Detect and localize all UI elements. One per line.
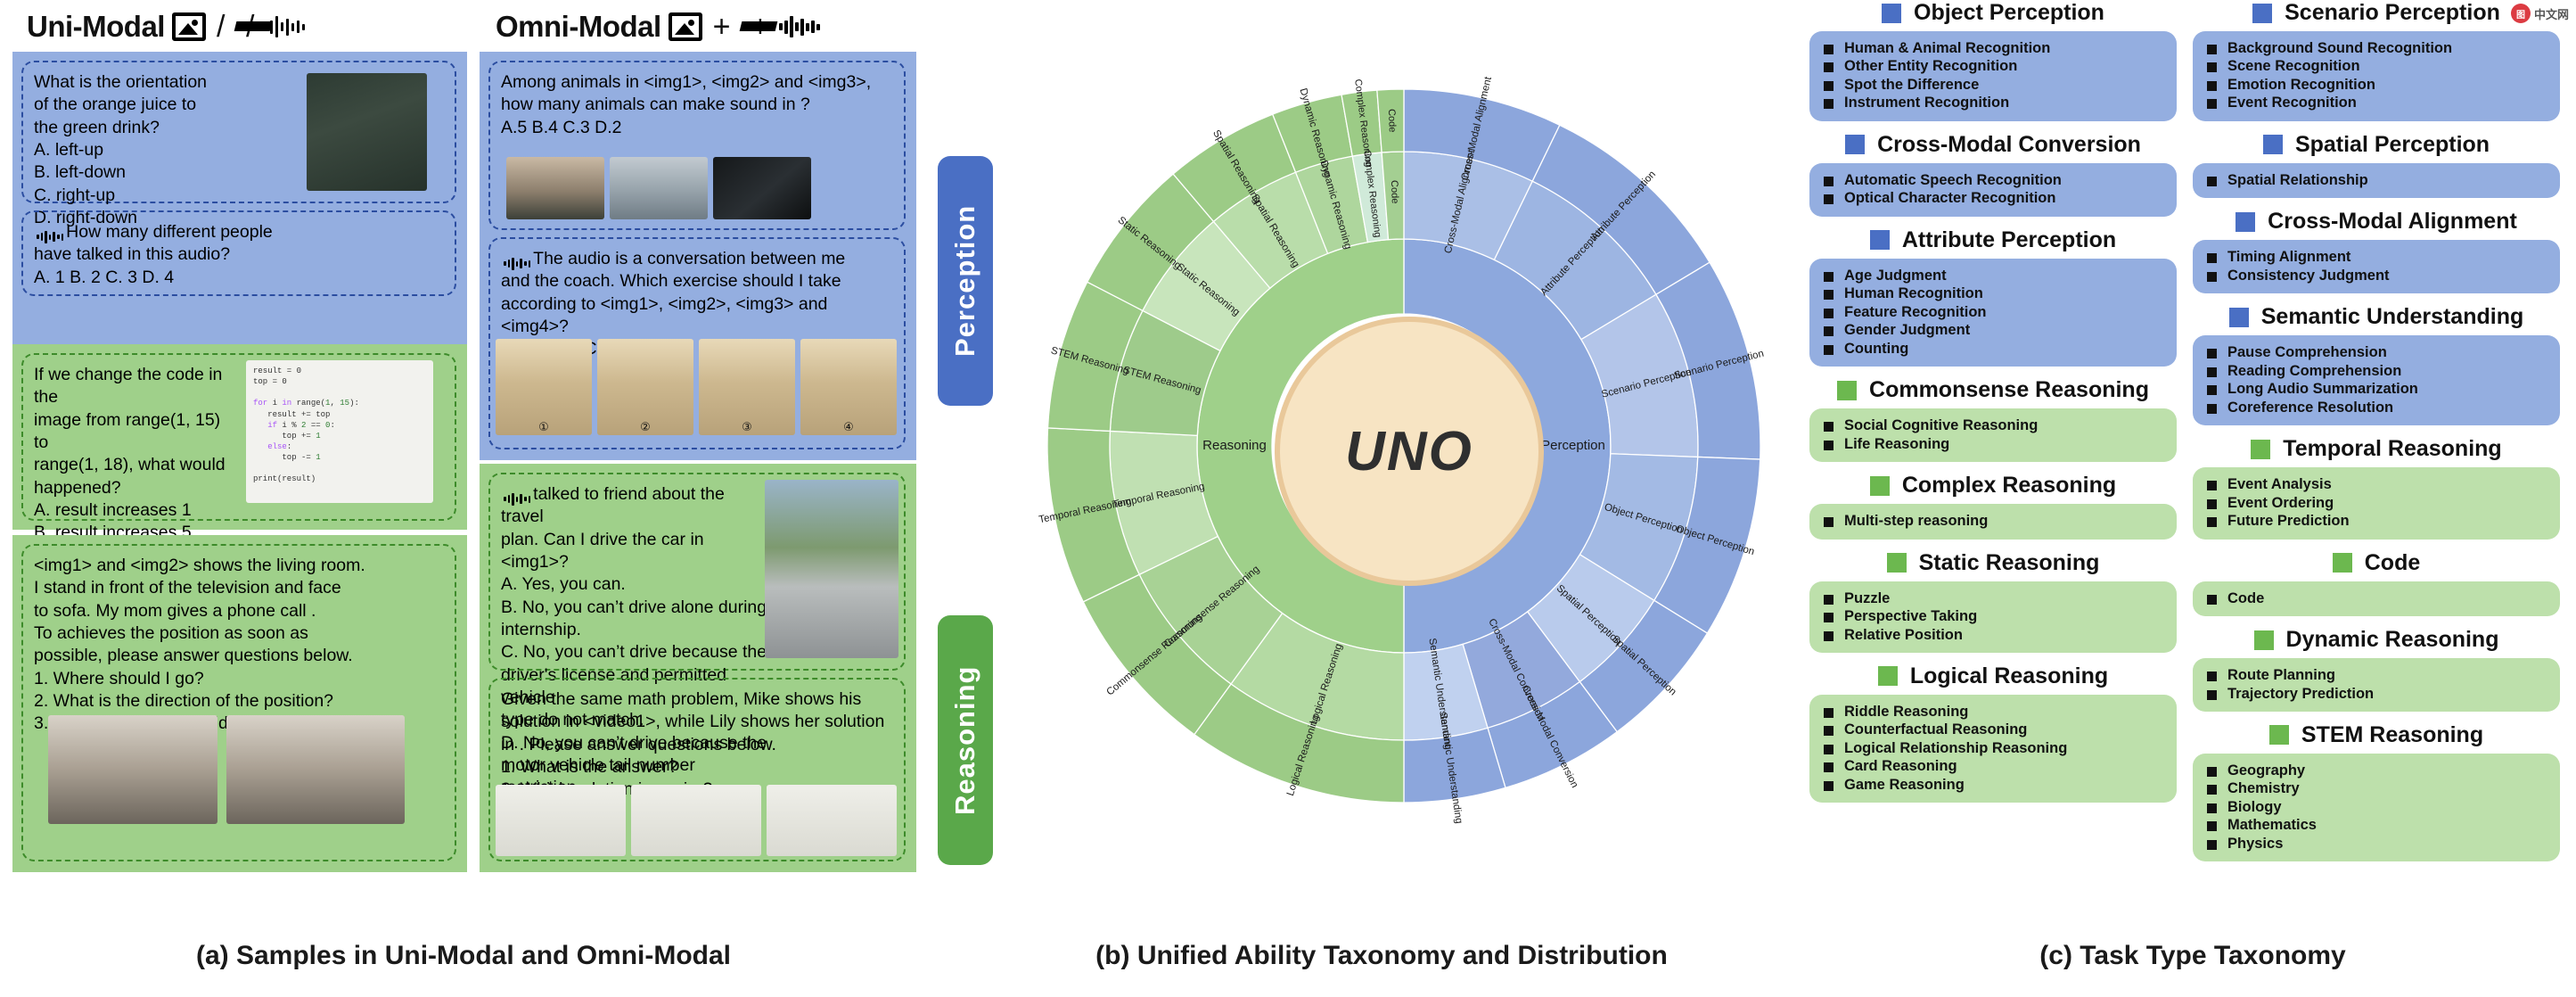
omni-modal-perception-region: Among animals in <img1>, <img2> and <img… — [480, 52, 916, 460]
task-list-item[interactable]: Long Audio Summarization — [2207, 381, 2551, 398]
task-list-item-label: Consistency Judgment — [2227, 268, 2390, 284]
task-list-item-label: Coreference Resolution — [2227, 400, 2393, 416]
task-group-title: Commonsense Reasoning — [1869, 377, 2149, 403]
task-list-item[interactable]: Automatic Speech Recognition — [1824, 172, 2168, 189]
task-group-header: Spatial Perception — [2193, 132, 2560, 158]
list-bullet-square-icon — [1824, 177, 1834, 186]
task-group-body: Automatic Speech RecognitionOptical Char… — [1809, 163, 2177, 217]
task-list-item-label: Optical Character Recognition — [1844, 190, 2055, 207]
task-group-body: PuzzlePerspective TakingRelative Positio… — [1809, 581, 2177, 653]
task-list-item[interactable]: Game Reasoning — [1824, 777, 2168, 794]
group-bullet-square-icon — [1878, 666, 1898, 686]
list-bullet-square-icon — [1824, 613, 1834, 622]
task-list-item[interactable]: Mathematics — [2207, 817, 2551, 834]
list-bullet-square-icon — [2207, 821, 2217, 831]
sample-card-omni-perception-1[interactable]: Among animals in <img1>, <img2> and <img… — [488, 61, 906, 230]
sample-question-text: <img1> and <img2> shows the living room.… — [34, 555, 444, 736]
task-group-body: Human & Animal RecognitionOther Entity R… — [1809, 31, 2177, 121]
task-group-body: Riddle ReasoningCounterfactual Reasoning… — [1809, 695, 2177, 803]
list-bullet-square-icon — [1824, 726, 1834, 736]
uni-modal-label: Uni-Modal — [27, 10, 165, 44]
list-bullet-square-icon — [2207, 45, 2217, 54]
task-list-item-label: Event Recognition — [2227, 95, 2357, 111]
list-bullet-square-icon — [2207, 672, 2217, 681]
task-group-header: Cross-Modal Conversion — [1809, 132, 2177, 158]
task-list-item-label: Card Reasoning — [1844, 758, 1957, 775]
omni-modal-reasoning-region: talked to friend about the travel plan. … — [480, 464, 916, 872]
task-list-item-label: Long Audio Summarization — [2227, 381, 2418, 398]
task-group-header: Dynamic Reasoning — [2193, 627, 2560, 653]
task-list-item[interactable]: Life Reasoning — [1824, 436, 2168, 453]
task-list-item-label: Timing Alignment — [2227, 249, 2350, 266]
task-list-item-label: Feature Recognition — [1844, 304, 1987, 321]
caption-c: (c) Task Type Taxonomy — [1809, 941, 2576, 971]
task-group-title: Spatial Perception — [2295, 132, 2490, 158]
list-bullet-square-icon — [1824, 290, 1834, 300]
group-bullet-square-icon — [2333, 553, 2352, 573]
task-group-body: Spatial Relationship — [2193, 163, 2560, 198]
list-bullet-square-icon — [2207, 177, 2217, 186]
task-group-body: Event AnalysisEvent OrderingFuture Predi… — [2193, 467, 2560, 539]
sunburst-core: UNO — [1275, 317, 1544, 586]
list-bullet-square-icon — [1824, 62, 1834, 72]
group-bullet-square-icon — [2229, 308, 2249, 327]
task-list-item[interactable]: Spatial Relationship — [2207, 172, 2551, 189]
task-list-item[interactable]: Emotion Recognition — [2207, 77, 2551, 94]
uni-modal-reasoning-region-2: <img1> and <img2> shows the living room.… — [12, 535, 467, 872]
separator-slash-1: / — [213, 10, 228, 45]
task-group-header: Semantic Understanding — [2193, 304, 2560, 330]
task-list-item-label: Other Entity Recognition — [1844, 58, 2017, 75]
task-list-item[interactable]: Counting — [1824, 341, 2168, 358]
task-list-item-label: Physics — [2227, 836, 2283, 853]
list-bullet-square-icon — [2207, 481, 2217, 490]
task-group-header: Temporal Reasoning — [2193, 436, 2560, 462]
task-list-item-label: Spatial Relationship — [2227, 172, 2368, 189]
list-bullet-square-icon — [2207, 785, 2217, 795]
task-list-item[interactable]: Social Cognitive Reasoning — [1824, 417, 2168, 434]
task-list-item[interactable]: Human Recognition — [1824, 285, 2168, 302]
sample-image-black-cat — [713, 157, 811, 219]
exercise-caption: ③ — [699, 420, 795, 434]
list-bullet-square-icon — [1824, 45, 1834, 54]
task-group-header: Static Reasoning — [1809, 550, 2177, 576]
sample-image-handwriting-3 — [767, 785, 897, 856]
task-group-body: Age JudgmentHuman RecognitionFeature Rec… — [1809, 259, 2177, 367]
sunburst-inner-label: Perception — [1541, 438, 1605, 453]
list-bullet-square-icon — [1824, 441, 1834, 450]
group-bullet-square-icon — [2263, 135, 2283, 154]
panel-b-taxonomy-sunburst: PerceptionReasoningCross-Modal Alignment… — [1007, 18, 1801, 874]
image-icon — [172, 12, 206, 41]
task-list-item-label: Geography — [2227, 762, 2305, 779]
task-list-item-label: Route Planning — [2227, 667, 2335, 684]
group-bullet-square-icon — [1845, 135, 1865, 154]
task-list-item[interactable]: Pause Comprehension — [2207, 344, 2551, 361]
sample-image-code-screenshot: result = 0top = 0 for i in range(1, 15):… — [246, 360, 433, 503]
sample-image-drinks — [307, 73, 427, 191]
task-list-item-label: Background Sound Recognition — [2227, 40, 2452, 57]
group-bullet-square-icon — [2236, 212, 2255, 232]
audio-wave-icon — [504, 258, 530, 270]
task-list-item[interactable]: Human & Animal Recognition — [1824, 40, 2168, 57]
task-list-item-label: Pause Comprehension — [2227, 344, 2387, 361]
sample-image-living-room-2 — [226, 715, 405, 824]
panel-c-task-taxonomy: Object PerceptionHuman & Animal Recognit… — [1809, 0, 2576, 919]
task-group-header: Commonsense Reasoning — [1809, 377, 2177, 403]
task-list-item-label: Counterfactual Reasoning — [1844, 721, 2027, 738]
sample-image-car-street — [765, 480, 898, 658]
sample-question-text: How many different people have talked in… — [34, 221, 444, 289]
task-list-item[interactable]: Code — [2207, 590, 2551, 607]
list-bullet-square-icon — [1824, 272, 1834, 282]
list-bullet-square-icon — [1824, 745, 1834, 754]
task-group-title: Attribute Perception — [1902, 227, 2116, 253]
task-group-body: Pause ComprehensionReading Comprehension… — [2193, 335, 2560, 425]
group-bullet-square-icon — [1882, 4, 1901, 23]
list-bullet-square-icon — [1824, 81, 1834, 91]
task-list-item-label: Game Reasoning — [1844, 777, 1965, 794]
task-list-item[interactable]: Other Entity Recognition — [1824, 58, 2168, 75]
list-bullet-square-icon — [1824, 631, 1834, 641]
image-icon — [669, 12, 702, 41]
task-taxonomy-right-column: Scenario PerceptionBackground Sound Reco… — [2193, 0, 2560, 872]
band-perception: Perception — [938, 156, 993, 406]
task-list-item-label: Logical Relationship Reasoning — [1844, 740, 2067, 757]
task-group-body: Route PlanningTrajectory Prediction — [2193, 658, 2560, 712]
sample-image-exercise-4: ④ — [800, 339, 897, 435]
group-bullet-square-icon — [1870, 230, 1890, 250]
task-group-title: STEM Reasoning — [2301, 722, 2483, 748]
sample-image-handwriting-2 — [631, 785, 761, 856]
task-group-header: Cross-Modal Alignment — [2193, 209, 2560, 235]
task-list-item[interactable]: Counterfactual Reasoning — [1824, 721, 2168, 738]
task-group-header: Scenario Perception — [2193, 0, 2560, 26]
task-list-item-label: Life Reasoning — [1844, 436, 1949, 453]
task-taxonomy-left-column: Object PerceptionHuman & Animal Recognit… — [1809, 0, 2177, 813]
group-bullet-square-icon — [2254, 630, 2274, 650]
list-bullet-square-icon — [1824, 309, 1834, 318]
sample-card-omni-reasoning-1[interactable]: talked to friend about the travel plan. … — [488, 473, 906, 671]
task-list-item[interactable]: Puzzle — [1824, 590, 2168, 607]
task-group-title: Logical Reasoning — [1910, 663, 2108, 689]
sample-image-exercise-1: ① — [496, 339, 592, 435]
task-list-item-label: Puzzle — [1844, 590, 1890, 607]
sample-question-text: Among animals in <img1>, <img2> and <img… — [501, 71, 893, 139]
task-list-item[interactable]: Scene Recognition — [2207, 58, 2551, 75]
code-snippet: result = 0top = 0 for i in range(1, 15):… — [246, 360, 433, 490]
omni-modal-label: Omni-Modal — [496, 10, 661, 44]
figure-captions: (a) Samples in Uni-Modal and Omni-Modal … — [0, 941, 2576, 985]
task-group-body: Multi-step reasoning — [1809, 504, 2177, 539]
sample-card-uni-reasoning-2[interactable]: <img1> and <img2> shows the living room.… — [21, 544, 456, 861]
list-bullet-square-icon — [2207, 690, 2217, 700]
task-list-item-label: Relative Position — [1844, 627, 1963, 644]
list-bullet-square-icon — [1824, 708, 1834, 718]
band-reasoning: Reasoning — [938, 615, 993, 865]
task-list-item-label: Automatic Speech Recognition — [1844, 172, 2062, 189]
list-bullet-square-icon — [2207, 385, 2217, 395]
list-bullet-square-icon — [2207, 840, 2217, 850]
task-group-body: Social Cognitive ReasoningLife Reasoning — [1809, 408, 2177, 462]
task-group-header: Complex Reasoning — [1809, 473, 2177, 498]
sample-card-omni-reasoning-2[interactable]: Given the same math problem, Mike shows … — [488, 678, 906, 861]
task-list-item-label: Spot the Difference — [1844, 77, 1979, 94]
task-group-title: Cross-Modal Alignment — [2268, 209, 2517, 235]
list-bullet-square-icon — [2207, 62, 2217, 72]
task-list-item[interactable]: Riddle Reasoning — [1824, 704, 2168, 721]
caption-a: (a) Samples in Uni-Modal and Omni-Modal — [0, 941, 927, 971]
task-list-item[interactable]: Card Reasoning — [1824, 758, 2168, 775]
exercise-caption: ① — [496, 420, 592, 434]
sample-card-uni-perception-2[interactable]: How many different people have talked in… — [21, 210, 456, 296]
task-group-header: STEM Reasoning — [2193, 722, 2560, 748]
uni-modal-perception-region: What is the orientation of the orange ju… — [12, 52, 467, 355]
task-list-item[interactable]: Spot the Difference — [1824, 77, 2168, 94]
task-list-item[interactable]: Logical Relationship Reasoning — [1824, 740, 2168, 757]
list-bullet-square-icon — [1824, 517, 1834, 527]
list-bullet-square-icon — [2207, 349, 2217, 358]
list-bullet-square-icon — [2207, 595, 2217, 605]
group-bullet-square-icon — [1837, 381, 1857, 400]
task-group-title: Object Perception — [1914, 0, 2104, 26]
task-list-item-label: Trajectory Prediction — [2227, 686, 2374, 703]
task-group-body: Code — [2193, 581, 2560, 616]
task-group-header: Object Perception — [1809, 0, 2177, 26]
sample-question-text: What is the orientation of the orange ju… — [34, 71, 301, 229]
task-group-title: Temporal Reasoning — [2283, 436, 2501, 462]
task-list-item-label: Code — [2227, 590, 2264, 607]
task-list-item[interactable]: Biology — [2207, 799, 2551, 816]
task-list-item[interactable]: Physics — [2207, 836, 2551, 853]
uni-modal-title: Uni-Modal / / — [12, 0, 305, 54]
task-list-item-label: Riddle Reasoning — [1844, 704, 1968, 721]
task-list-item-label: Mathematics — [2227, 817, 2317, 834]
task-group-body: GeographyChemistryBiologyMathematicsPhys… — [2193, 754, 2560, 861]
sample-question-body: How many different people have talked in… — [34, 222, 273, 287]
task-list-item-label: Event Ordering — [2227, 495, 2334, 512]
task-list-item-label: Gender Judgment — [1844, 322, 1970, 339]
task-list-item-label: Emotion Recognition — [2227, 77, 2375, 94]
list-bullet-square-icon — [2207, 367, 2217, 377]
task-list-item[interactable]: Multi-step reasoning — [1824, 513, 2168, 530]
sample-image-living-room-1 — [48, 715, 217, 824]
task-list-item[interactable]: Event Ordering — [2207, 495, 2551, 512]
sample-image-exercise-3: ③ — [699, 339, 795, 435]
group-bullet-square-icon — [2251, 440, 2270, 459]
sample-question-body: <img1> and <img2> shows the living room.… — [34, 556, 365, 733]
list-bullet-square-icon — [1824, 762, 1834, 772]
task-list-item[interactable]: Future Prediction — [2207, 513, 2551, 530]
task-list-item-label: Chemistry — [2227, 780, 2300, 797]
task-list-item[interactable]: Relative Position — [1824, 627, 2168, 644]
group-bullet-square-icon — [2252, 4, 2272, 23]
task-list-item[interactable]: Feature Recognition — [1824, 304, 2168, 321]
list-bullet-square-icon — [1824, 326, 1834, 336]
task-list-item[interactable]: Perspective Taking — [1824, 608, 2168, 625]
task-group-body: Timing AlignmentConsistency Judgment — [2193, 240, 2560, 293]
sample-image-exercise-2: ② — [597, 339, 693, 435]
task-list-item-label: Instrument Recognition — [1844, 95, 2009, 111]
task-list-item-label: Event Analysis — [2227, 476, 2332, 493]
sample-card-uni-reasoning-1[interactable]: If we change the code in the image from … — [21, 353, 456, 521]
list-bullet-square-icon — [2207, 253, 2217, 263]
list-bullet-square-icon — [2207, 99, 2217, 109]
sunburst-outer-label: Code — [1386, 109, 1398, 133]
task-list-item[interactable]: Trajectory Prediction — [2207, 686, 2551, 703]
task-group-header: Attribute Perception — [1809, 227, 2177, 253]
task-list-item-label: Multi-step reasoning — [1844, 513, 1988, 530]
task-list-item[interactable]: Chemistry — [2207, 780, 2551, 797]
audio-wave-icon — [779, 13, 820, 40]
task-list-item-label: Social Cognitive Reasoning — [1844, 417, 2038, 434]
list-bullet-square-icon — [2207, 517, 2217, 527]
list-bullet-square-icon — [2207, 803, 2217, 813]
task-list-item-label: Counting — [1844, 341, 1908, 358]
exercise-caption: ② — [597, 420, 693, 434]
group-bullet-square-icon — [1870, 476, 1890, 496]
uni-modal-reasoning-region-1: If we change the code in the image from … — [12, 344, 467, 530]
task-group-title: Cross-Modal Conversion — [1877, 132, 2141, 158]
task-list-item-label: Scene Recognition — [2227, 58, 2360, 75]
task-list-item[interactable]: Event Analysis — [2207, 476, 2551, 493]
task-list-item-label: Age Judgment — [1844, 268, 1947, 284]
task-list-item[interactable]: Consistency Judgment — [2207, 268, 2551, 284]
group-bullet-square-icon — [1887, 553, 1907, 573]
sample-image-dog-sofa — [610, 157, 708, 219]
figure-root: 图 中文网 Uni-Modal / / Omni-Modal + + — [0, 0, 2576, 997]
task-group-body: Background Sound RecognitionScene Recogn… — [2193, 31, 2560, 121]
audio-wave-icon — [37, 231, 63, 243]
list-bullet-square-icon — [1824, 345, 1834, 355]
task-group-title: Dynamic Reasoning — [2286, 627, 2499, 653]
task-list-item[interactable]: Background Sound Recognition — [2207, 40, 2551, 57]
list-bullet-square-icon — [2207, 404, 2217, 414]
task-list-item[interactable]: Event Recognition — [2207, 95, 2551, 111]
list-bullet-square-icon — [2207, 767, 2217, 777]
group-bullet-square-icon — [2269, 725, 2289, 745]
task-list-item-label: Future Prediction — [2227, 513, 2350, 530]
list-bullet-square-icon — [1824, 595, 1834, 605]
list-bullet-square-icon — [2207, 499, 2217, 509]
list-bullet-square-icon — [2207, 272, 2217, 282]
list-bullet-square-icon — [1824, 781, 1834, 791]
task-list-item-label: Reading Comprehension — [2227, 363, 2401, 380]
sample-image-handwriting-1 — [496, 785, 626, 856]
omni-modal-title: Omni-Modal + + — [481, 0, 820, 54]
list-bullet-square-icon — [2207, 81, 2217, 91]
task-group-header: Code — [2193, 550, 2560, 576]
list-bullet-square-icon — [1824, 194, 1834, 204]
exercise-caption: ④ — [800, 420, 897, 434]
task-list-item-label: Perspective Taking — [1844, 608, 1977, 625]
task-group-title: Complex Reasoning — [1902, 473, 2116, 498]
core-label: UNO — [1345, 420, 1473, 483]
sample-image-cat-window — [506, 157, 604, 219]
task-list-item[interactable]: Geography — [2207, 762, 2551, 779]
list-bullet-square-icon — [1824, 422, 1834, 432]
task-list-item[interactable]: Reading Comprehension — [2207, 363, 2551, 380]
sample-card-uni-perception-1[interactable]: What is the orientation of the orange ju… — [21, 61, 456, 203]
task-list-item[interactable]: Coreference Resolution — [2207, 400, 2551, 416]
audio-wave-icon — [504, 493, 530, 506]
list-bullet-square-icon — [1824, 99, 1834, 109]
task-list-item[interactable]: Timing Alignment — [2207, 249, 2551, 266]
caption-b: (b) Unified Ability Taxonomy and Distrib… — [963, 941, 1801, 971]
task-group-title: Static Reasoning — [1919, 550, 2100, 576]
task-list-item[interactable]: Instrument Recognition — [1824, 95, 2168, 111]
panel-a-samples: Uni-Modal / / Omni-Modal + + What is the… — [0, 0, 927, 919]
task-list-item[interactable]: Gender Judgment — [1824, 322, 2168, 339]
sunburst-mid-label: Code — [1389, 180, 1400, 204]
task-list-item[interactable]: Route Planning — [2207, 667, 2551, 684]
task-group-title: Scenario Perception — [2285, 0, 2500, 26]
task-list-item-label: Biology — [2227, 799, 2282, 816]
task-group-title: Code — [2365, 550, 2421, 576]
task-group-title: Semantic Understanding — [2261, 304, 2524, 330]
task-list-item-label: Human & Animal Recognition — [1844, 40, 2050, 57]
task-list-item[interactable]: Age Judgment — [1824, 268, 2168, 284]
sunburst-inner-label: Reasoning — [1202, 438, 1267, 453]
sample-card-omni-perception-2[interactable]: The audio is a conversation between me a… — [488, 237, 906, 449]
separator-plus-1: + — [710, 10, 734, 45]
task-list-item-label: Human Recognition — [1844, 285, 1983, 302]
task-group-header: Logical Reasoning — [1809, 663, 2177, 689]
task-list-item[interactable]: Optical Character Recognition — [1824, 190, 2168, 207]
